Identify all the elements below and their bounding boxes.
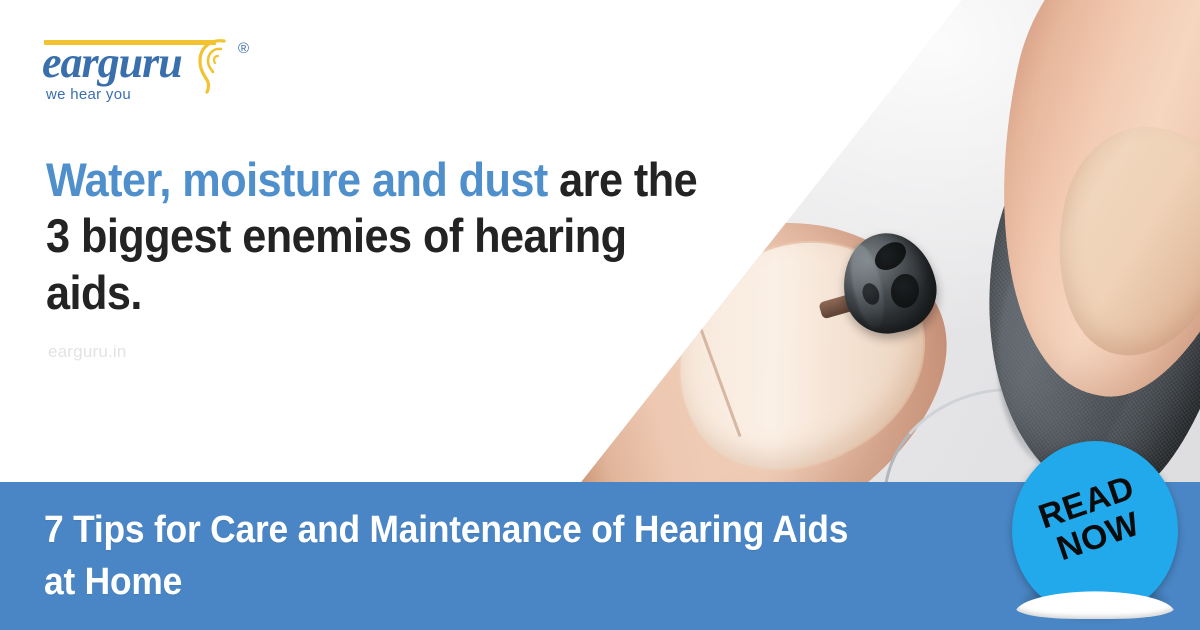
- cta-title: 7 Tips for Care and Maintenance of Heari…: [44, 504, 862, 609]
- blog-promo-banner: 7 Tips for Care and Maintenance of Heari…: [0, 0, 1200, 630]
- earguru-logo[interactable]: earguru ® we hear you: [42, 34, 257, 106]
- dome-vent-opening: [889, 272, 920, 309]
- logo-tagline: we hear you: [46, 86, 131, 103]
- headline-accent: Water, moisture and dust: [46, 153, 548, 206]
- read-now-button[interactable]: READ NOW: [1012, 441, 1178, 613]
- site-url: earguru.in: [48, 342, 127, 362]
- registered-mark: ®: [238, 40, 249, 57]
- read-now-label: READ NOW: [989, 419, 1200, 630]
- ear-icon: [194, 36, 238, 94]
- headline: Water, moisture and dust are the 3 bigge…: [46, 152, 727, 321]
- logo-wordmark: earguru: [42, 40, 182, 86]
- fingernail-upper: [1036, 112, 1200, 372]
